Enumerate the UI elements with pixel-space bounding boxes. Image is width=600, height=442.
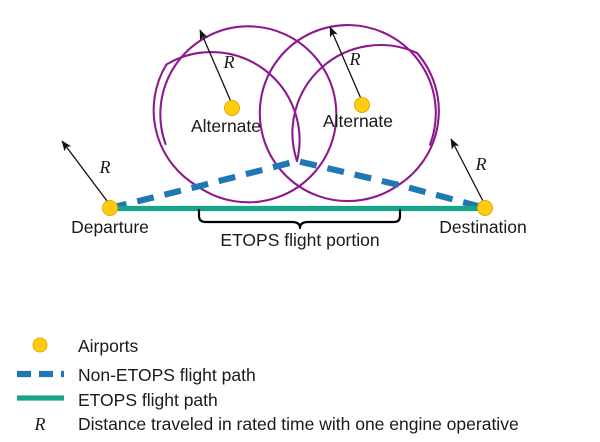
range-circles-group	[154, 25, 439, 202]
departure-airport-dot	[103, 201, 118, 216]
radius-arrows-group	[62, 27, 485, 205]
radius-label-destination: R	[475, 154, 487, 174]
radius-label-alternate-1: R	[223, 52, 235, 72]
departure-airport-label: Departure	[71, 217, 149, 237]
legend-non-etops-label: Non-ETOPS flight path	[78, 365, 256, 385]
destination-airport-dot	[478, 201, 493, 216]
alternate-airport-1-label: Alternate	[191, 116, 261, 136]
legend-airports-label: Airports	[78, 336, 139, 356]
legend-dot-marker	[33, 338, 47, 352]
etops-diagram: R R R R ETOPS flight portion Departure A…	[0, 0, 600, 442]
etops-portion-brace	[199, 210, 400, 228]
radius-label-departure: R	[99, 157, 111, 177]
alternate-airport-1-dot	[225, 101, 240, 116]
diagram-canvas: R R R R ETOPS flight portion Departure A…	[0, 0, 600, 442]
radius-label-alternate-2: R	[349, 49, 361, 69]
legend-radius-label: Distance traveled in rated time with one…	[78, 414, 519, 434]
alternate-airport-2-label: Alternate	[323, 111, 393, 131]
legend-r-glyph: R	[34, 414, 46, 434]
etops-portion-label: ETOPS flight portion	[220, 230, 379, 250]
legend-etops-label: ETOPS flight path	[78, 390, 218, 410]
destination-airport-label: Destination	[439, 217, 527, 237]
legend: Airports Non-ETOPS flight path ETOPS fli…	[17, 336, 519, 434]
